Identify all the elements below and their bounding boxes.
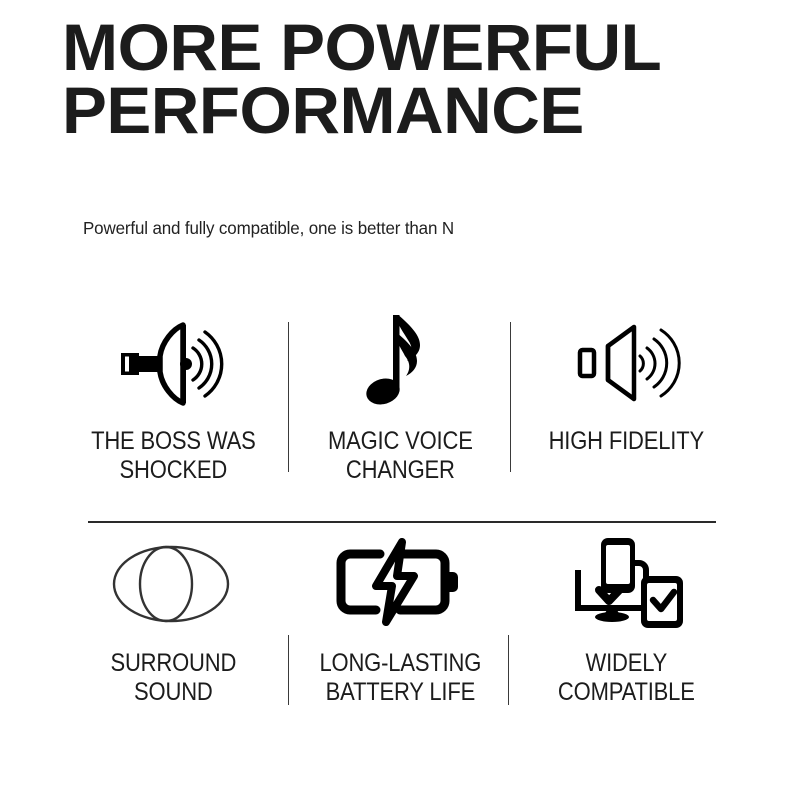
feature-the-boss-was-shocked: THE BOSS WAS SHOCKED	[60, 305, 287, 521]
column-divider	[288, 635, 289, 705]
feature-label: LONG-LASTING BATTERY LIFE	[300, 649, 499, 707]
page-title-line-2: PERFORMANCE	[62, 79, 776, 142]
feature-label: THE BOSS WAS SHOCKED	[74, 427, 273, 485]
page-subtitle: Powerful and fully compatible, one is be…	[83, 218, 454, 239]
promo-page: MORE POWERFUL PERFORMANCE Powerful and f…	[0, 0, 800, 800]
feature-surround-sound: SURROUND SOUND	[60, 521, 287, 751]
feature-label: SURROUND SOUND	[74, 649, 273, 707]
feature-row-two: SURROUND SOUND LONG-LASTING BATTE	[60, 521, 740, 751]
speaker-volume-icon	[572, 305, 682, 421]
feature-label: MAGIC VOICE CHANGER	[300, 427, 499, 485]
column-divider	[288, 322, 289, 472]
page-title-line-1: MORE POWERFUL	[62, 16, 776, 79]
surround-ellipses-icon	[108, 521, 238, 643]
multi-device-check-icon	[568, 521, 686, 643]
megaphone-waves-icon	[113, 305, 233, 421]
page-title: MORE POWERFUL PERFORMANCE	[62, 16, 776, 143]
battery-charging-icon	[332, 521, 468, 643]
feature-widely-compatible: WIDELY COMPATIBLE	[513, 521, 740, 751]
feature-grid: THE BOSS WAS SHOCKED MAGIC VOICE	[60, 305, 740, 751]
feature-label: WIDELY COMPATIBLE	[527, 649, 726, 707]
column-divider	[510, 322, 511, 472]
feature-magic-voice-changer: MAGIC VOICE CHANGER	[287, 305, 514, 521]
music-note-icon	[358, 305, 442, 421]
column-divider	[508, 635, 509, 705]
feature-label: HIGH FIDELITY	[549, 427, 704, 456]
feature-row-one: THE BOSS WAS SHOCKED MAGIC VOICE	[60, 305, 740, 521]
feature-long-lasting-battery-life: LONG-LASTING BATTERY LIFE	[287, 521, 514, 751]
feature-high-fidelity: HIGH FIDELITY	[513, 305, 740, 521]
